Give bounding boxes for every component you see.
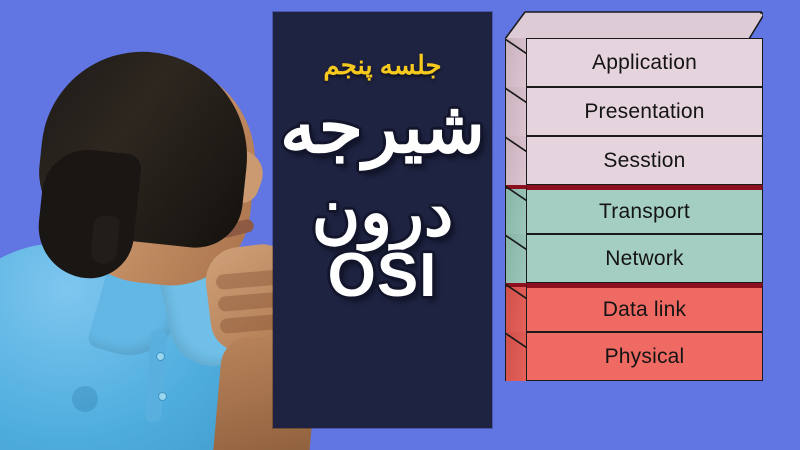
osi-layer-transport[interactable]: Transport [505, 185, 763, 234]
title-line-3: OSI [328, 246, 438, 307]
layer-side-face [505, 283, 526, 332]
layer-label: Application [592, 51, 697, 75]
osi-layer-session[interactable]: Sesstion [505, 136, 763, 185]
thumbnail-canvas: جلسه پنجم شیرجه درون OSI Application Pre… [0, 0, 800, 450]
layer-front-face: Physical [526, 332, 763, 381]
osi-layer-data-link[interactable]: Data link [505, 283, 763, 332]
layer-side-face [505, 185, 526, 234]
layer-side-face [505, 234, 526, 283]
layer-front-face: Application [526, 38, 763, 87]
title-line-1: شیرجه [280, 93, 485, 164]
stack-top-face [505, 10, 763, 40]
layer-label: Physical [605, 345, 685, 369]
layer-label: Presentation [584, 100, 704, 124]
shirt-button-bottom [158, 392, 167, 401]
layer-label: Data link [603, 298, 687, 322]
osi-layer-network[interactable]: Network [505, 234, 763, 283]
layer-label: Sesstion [603, 149, 685, 173]
person-photo [0, 0, 310, 450]
stack-layers: Application Presentation Sesstion Transp… [505, 38, 763, 430]
shirt-button-top [156, 352, 165, 361]
title-line-2: درون [312, 180, 454, 245]
layer-front-face: Sesstion [526, 136, 763, 185]
osi-layer-physical[interactable]: Physical [505, 332, 763, 381]
layer-label: Network [605, 247, 683, 271]
osi-layer-application[interactable]: Application [505, 38, 763, 87]
layer-side-face [505, 136, 526, 185]
layer-front-face: Presentation [526, 87, 763, 136]
layer-side-face [505, 38, 526, 87]
osi-model-stack: Application Presentation Sesstion Transp… [505, 10, 763, 430]
layer-front-face: Data link [526, 283, 763, 332]
osi-layer-presentation[interactable]: Presentation [505, 87, 763, 136]
layer-label: Transport [599, 200, 690, 224]
layer-side-face [505, 332, 526, 381]
layer-front-face: Network [526, 234, 763, 283]
session-label: جلسه پنجم [323, 50, 441, 81]
title-panel: جلسه پنجم شیرجه درون OSI [273, 12, 492, 428]
layer-front-face: Transport [526, 185, 763, 234]
shirt-logo [72, 386, 98, 412]
layer-side-face [505, 87, 526, 136]
